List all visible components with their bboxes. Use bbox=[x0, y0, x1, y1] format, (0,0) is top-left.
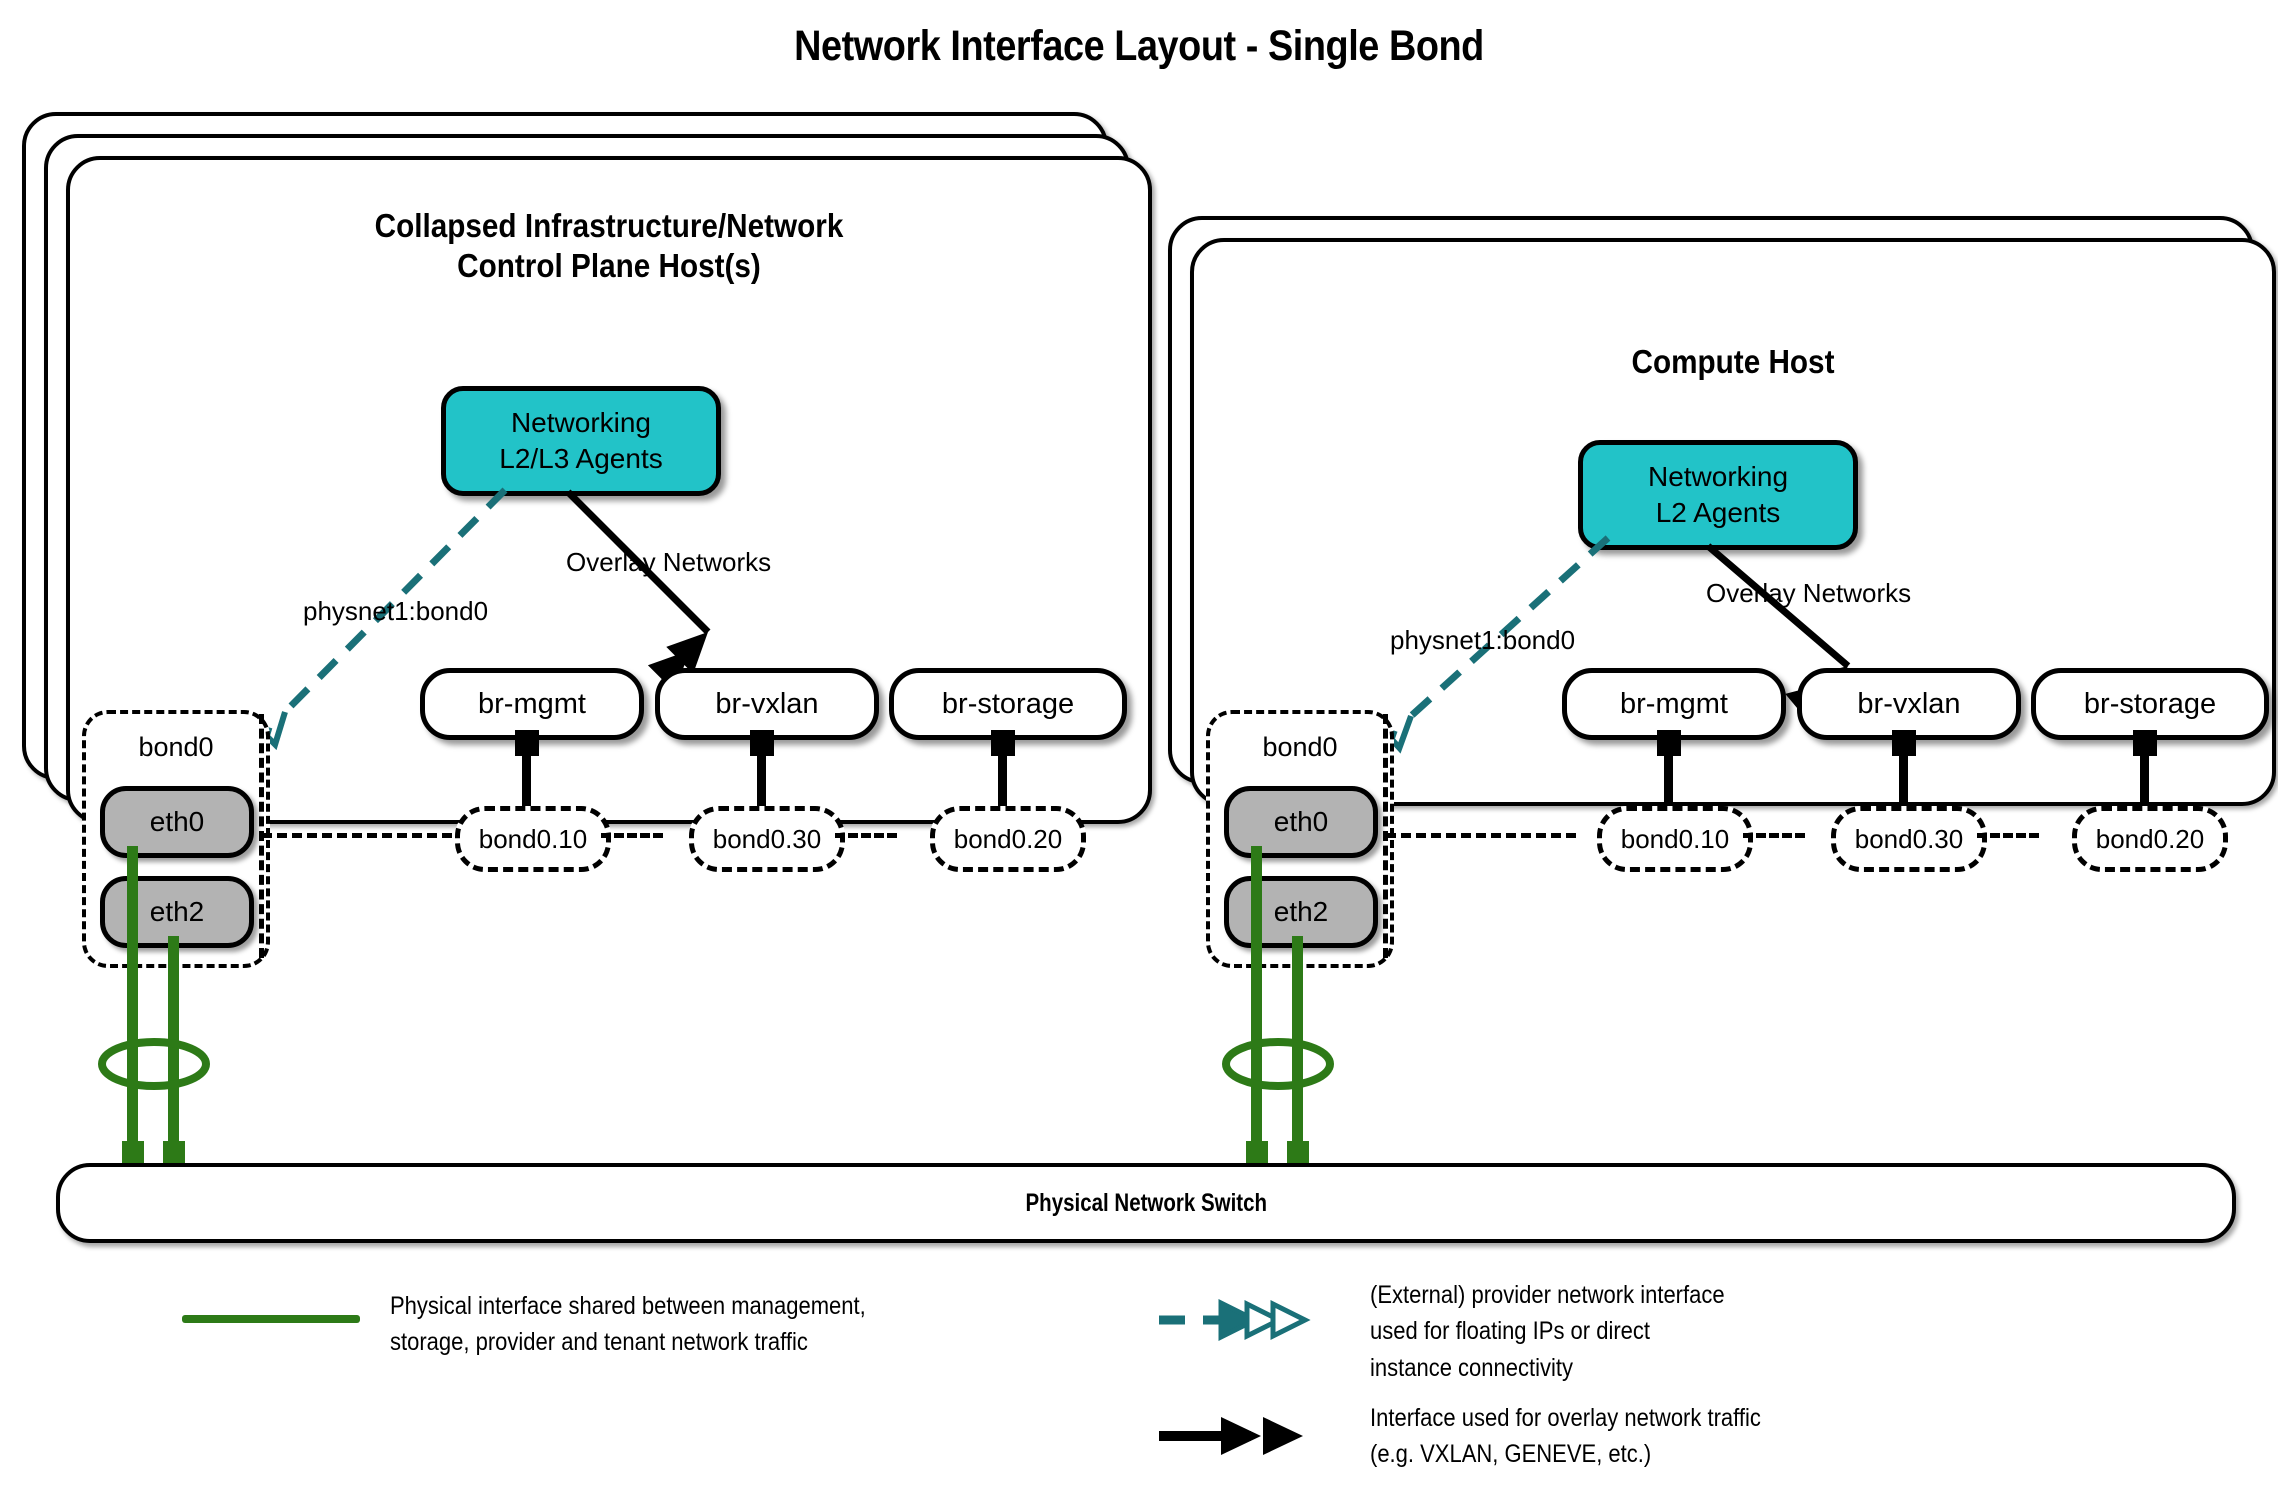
compute-host-vlan-bond0-20-label: bond0.20 bbox=[2096, 824, 2204, 855]
compute-host-bond-trunk-horizontal bbox=[1386, 833, 1576, 838]
legend-provider-network-swatch bbox=[1155, 1290, 1355, 1350]
compute-host-vlan-bond0-10-label: bond0.10 bbox=[1621, 824, 1729, 855]
legend-provider-network-text: (External) provider network interface us… bbox=[1370, 1277, 2039, 1386]
control-host-nic-eth0-label: eth0 bbox=[150, 806, 205, 838]
control-host-vlan-bond0-30-label: bond0.30 bbox=[713, 824, 821, 855]
legend-overlay-network-swatch bbox=[1155, 1412, 1355, 1460]
legend-physical-interface-swatch bbox=[182, 1315, 360, 1323]
control-host-nic-eth2-label: eth2 bbox=[150, 896, 205, 928]
compute-host-overlay-label: Overlay Networks bbox=[1706, 578, 1911, 609]
control-host-title: Collapsed Infrastructure/Network Control… bbox=[124, 206, 1094, 287]
legend-physical-interface-text: Physical interface shared between manage… bbox=[390, 1288, 1006, 1361]
page-title: Network Interface Layout - Single Bond bbox=[137, 22, 2142, 71]
compute-host-nic-eth0-label: eth0 bbox=[1274, 806, 1329, 838]
control-host-vlan-link-2 bbox=[835, 833, 897, 838]
control-host-bond-trunk-horizontal bbox=[262, 833, 452, 838]
compute-host-bridge-br-storage-label: br-storage bbox=[2084, 688, 2216, 721]
control-host-vlan-bond0-20[interactable]: bond0.20 bbox=[930, 806, 1086, 872]
physical-network-switch-label: Physical Network Switch bbox=[1025, 1189, 1267, 1218]
control-host-agent-label: Networking L2/L3 Agents bbox=[499, 405, 662, 477]
compute-host-agent-label: Networking L2 Agents bbox=[1648, 459, 1788, 531]
control-host-vlan-link-1 bbox=[601, 833, 663, 838]
compute-host-vlan-bond0-10[interactable]: bond0.10 bbox=[1597, 806, 1753, 872]
control-host-bridge-br-storage-label: br-storage bbox=[942, 688, 1074, 721]
legend-overlay-network-text: Interface used for overlay network traff… bbox=[1370, 1400, 2039, 1473]
control-host-bridge-br-mgmt-label: br-mgmt bbox=[478, 688, 586, 721]
compute-host-vlan-bond0-20[interactable]: bond0.20 bbox=[2072, 806, 2228, 872]
compute-host-title: Compute Host bbox=[1248, 342, 2218, 382]
control-host-bond-label: bond0 bbox=[86, 732, 266, 763]
control-host-vlan-bond0-20-label: bond0.20 bbox=[954, 824, 1062, 855]
control-host-vlan-bond0-30[interactable]: bond0.30 bbox=[689, 806, 845, 872]
control-host-nic-eth0[interactable]: eth0 bbox=[100, 786, 254, 858]
compute-host-bond-label: bond0 bbox=[1210, 732, 1390, 763]
control-host-physnet-label: physnet1:bond0 bbox=[303, 596, 488, 627]
compute-host-nic-eth2-label: eth2 bbox=[1274, 896, 1329, 928]
control-host-vlan-bond0-10-label: bond0.10 bbox=[479, 824, 587, 855]
compute-host-nic-eth0[interactable]: eth0 bbox=[1224, 786, 1378, 858]
control-host-overlay-label: Overlay Networks bbox=[566, 547, 771, 578]
compute-host-vlan-bond0-30-label: bond0.30 bbox=[1855, 824, 1963, 855]
control-host-bond-ring-icon bbox=[98, 1037, 210, 1091]
compute-host-vlan-link-1 bbox=[1743, 833, 1805, 838]
compute-host-vlan-link-2 bbox=[1977, 833, 2039, 838]
compute-host-cable-eth0 bbox=[1251, 846, 1262, 1161]
compute-host-bridge-br-mgmt-label: br-mgmt bbox=[1620, 688, 1728, 721]
physical-network-switch[interactable]: Physical Network Switch bbox=[56, 1163, 2236, 1243]
compute-host-physnet-label: physnet1:bond0 bbox=[1390, 625, 1575, 656]
control-host-vlan-bond0-10[interactable]: bond0.10 bbox=[455, 806, 611, 872]
compute-host-bond-ring-icon bbox=[1222, 1037, 1334, 1091]
compute-host-vlan-bond0-30[interactable]: bond0.30 bbox=[1831, 806, 1987, 872]
control-host-bridge-br-vxlan-label: br-vxlan bbox=[715, 688, 818, 721]
control-host-cable-eth0 bbox=[127, 846, 138, 1161]
compute-host-bridge-br-vxlan-label: br-vxlan bbox=[1857, 688, 1960, 721]
